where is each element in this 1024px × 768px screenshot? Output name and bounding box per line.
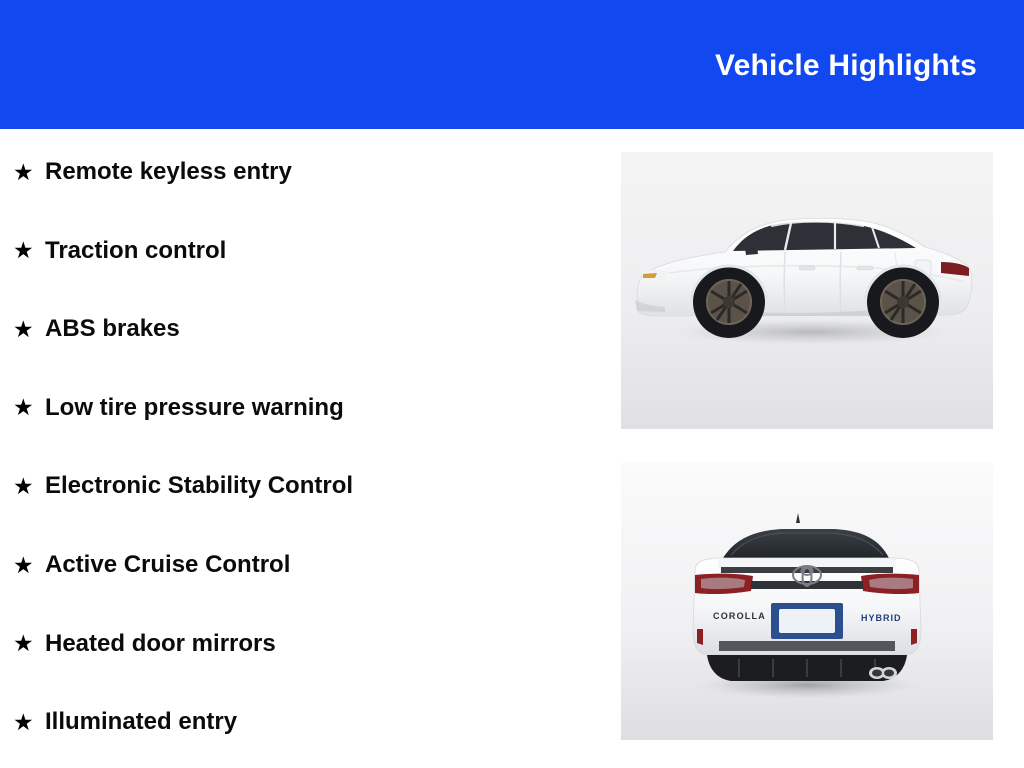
vehicle-rear-view-photo: COROLLA HYBRID	[621, 463, 993, 740]
highlight-item-label: Illuminated entry	[45, 710, 237, 734]
highlight-item: ★Illuminated entry	[13, 707, 237, 737]
vehicle-side-profile-photo	[621, 152, 993, 429]
star-icon: ★	[13, 632, 45, 655]
highlight-item-label: Electronic Stability Control	[45, 474, 353, 498]
star-icon: ★	[13, 318, 45, 341]
highlight-item-label: ABS brakes	[45, 317, 180, 341]
corolla-badge: COROLLA	[713, 611, 766, 621]
highlight-item: ★ABS brakes	[13, 314, 180, 344]
highlight-item: ★Remote keyless entry	[13, 157, 292, 187]
star-icon: ★	[13, 396, 45, 419]
star-icon: ★	[13, 239, 45, 262]
star-icon: ★	[13, 161, 45, 184]
highlight-item-label: Active Cruise Control	[45, 553, 290, 577]
page-title: Vehicle Highlights	[715, 51, 977, 81]
highlight-item-label: Low tire pressure warning	[45, 396, 344, 420]
star-icon: ★	[13, 711, 45, 734]
highlight-item: ★Active Cruise Control	[13, 550, 290, 580]
star-icon: ★	[13, 554, 45, 577]
highlight-item-label: Heated door mirrors	[45, 632, 276, 656]
highlight-item-label: Traction control	[45, 239, 226, 263]
highlight-item: ★Traction control	[13, 236, 226, 266]
vehicle-side-profile-illustration	[621, 152, 993, 429]
star-icon: ★	[13, 475, 45, 498]
hybrid-badge: HYBRID	[861, 613, 902, 623]
header-band: Vehicle Highlights	[0, 0, 1024, 129]
content-area: ★Remote keyless entry★Traction control★A…	[0, 129, 1024, 768]
highlight-item: ★Electronic Stability Control	[13, 471, 353, 501]
highlight-item: ★Low tire pressure warning	[13, 393, 344, 423]
highlight-item-label: Remote keyless entry	[45, 160, 292, 184]
highlight-item: ★Heated door mirrors	[13, 629, 276, 659]
vehicle-rear-view-illustration: COROLLA HYBRID	[621, 463, 993, 740]
